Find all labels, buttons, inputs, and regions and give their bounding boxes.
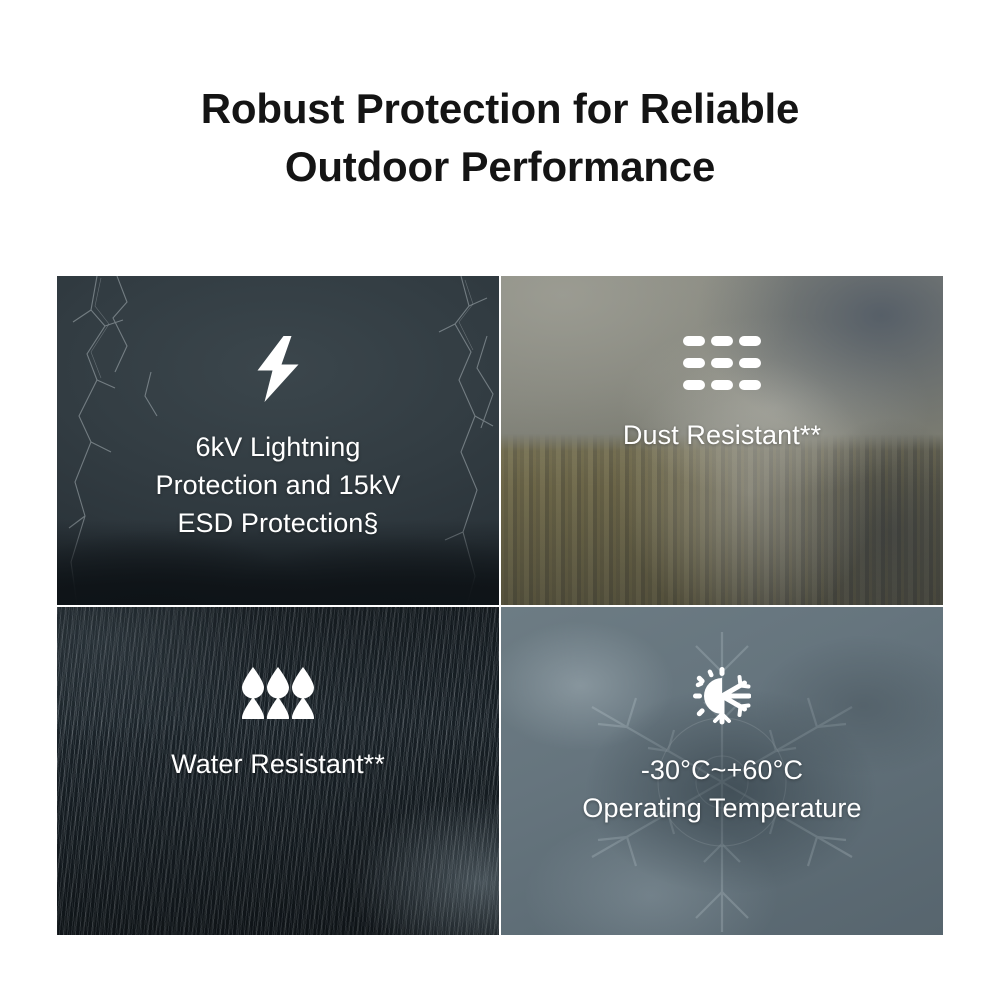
label-line: ESD Protection§ — [177, 508, 378, 538]
feature-label-operating-temperature: -30°C~+60°C Operating Temperature — [556, 751, 887, 827]
feature-grid: 6kV Lightning Protection and 15kV ESD Pr… — [57, 276, 943, 935]
lightning-bolt-icon — [253, 336, 303, 402]
sun-snowflake-icon — [693, 667, 751, 725]
label-line: Dust Resistant** — [623, 420, 821, 450]
feature-tile-operating-temperature[interactable]: -30°C~+60°C Operating Temperature — [501, 607, 943, 936]
label-line: -30°C~+60°C — [641, 755, 803, 785]
label-line: Water Resistant** — [171, 749, 385, 779]
feature-tile-water-resistant[interactable]: Water Resistant** — [57, 607, 499, 936]
page-title: Robust Protection for Reliable Outdoor P… — [0, 80, 1000, 196]
feature-tile-lightning-protection[interactable]: 6kV Lightning Protection and 15kV ESD Pr… — [57, 276, 499, 605]
label-line: 6kV Lightning — [196, 432, 361, 462]
page-title-line-2: Outdoor Performance — [0, 138, 1000, 196]
feature-label-dust-resistant: Dust Resistant** — [597, 416, 847, 454]
water-droplets-icon — [242, 667, 314, 719]
label-line: Operating Temperature — [582, 793, 861, 823]
dust-grid-icon — [683, 336, 761, 390]
page-title-line-1: Robust Protection for Reliable — [0, 80, 1000, 138]
feature-label-lightning-protection: 6kV Lightning Protection and 15kV ESD Pr… — [129, 428, 426, 542]
feature-highlight-page: Robust Protection for Reliable Outdoor P… — [0, 0, 1000, 1000]
label-line: Protection and 15kV — [155, 470, 400, 500]
feature-tile-dust-resistant[interactable]: Dust Resistant** — [501, 276, 943, 605]
feature-label-water-resistant: Water Resistant** — [145, 745, 411, 783]
